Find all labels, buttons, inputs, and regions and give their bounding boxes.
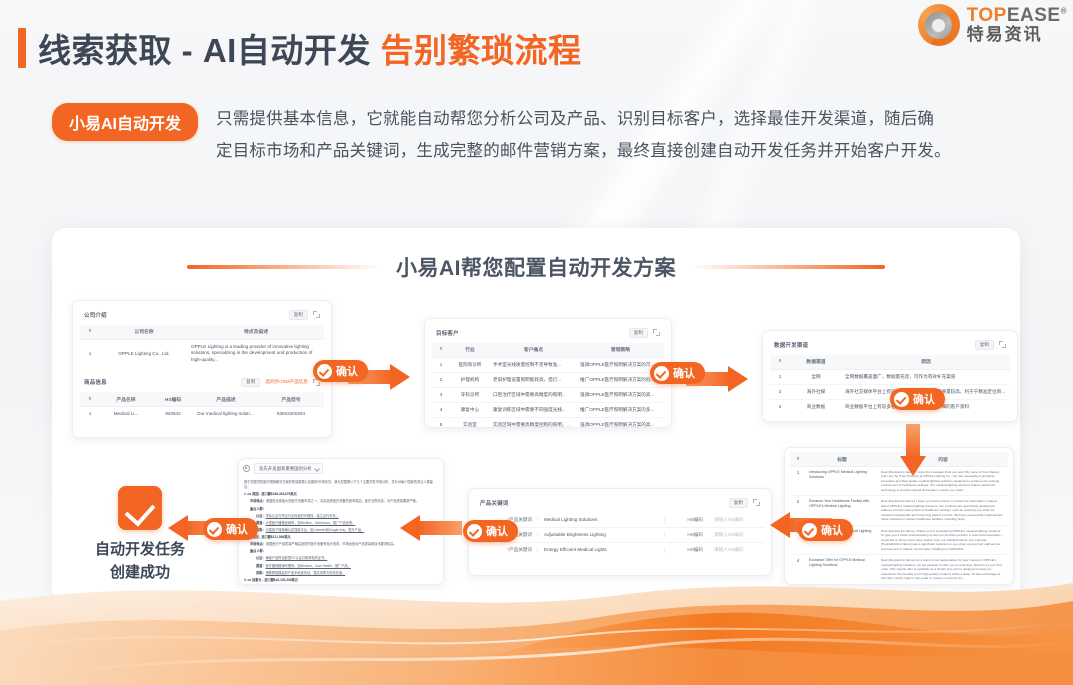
page-title-main: 线索获取 - AI自动开发 <box>38 32 381 69</box>
keyword-label-text: 产品关键词 <box>509 547 532 552</box>
task-success-block: 自动开发任务 创建成功 <box>88 486 192 585</box>
col-index: # <box>432 343 450 358</box>
page-title-text: 线索获取 - AI自动开发 告别繁琐流程 <box>38 24 582 72</box>
cell-subject: Enhance Your Healthcare Facility with OP… <box>809 499 875 509</box>
col-product-desc: 产品描述 <box>194 392 258 407</box>
check-icon <box>894 392 909 407</box>
card-company-info[interactable]: 公司介绍 复制 # 公司名称 特点及描述 1 OPPLE Lighting Co… <box>72 300 332 438</box>
table-row: 2护理机构老旧护理设置照明能耗高，但灯...推广OPPLE医疗照明解决方案的低.… <box>432 372 664 387</box>
confirm-label: 确认 <box>336 363 358 379</box>
keyword-value-input[interactable]: Adjustable Brightness Lighting <box>537 532 664 537</box>
confirm-chip-channel[interactable]: 确认 <box>890 388 945 410</box>
page-title: 线索获取 - AI自动开发 告别繁琐流程 <box>18 24 582 72</box>
check-icon <box>467 524 482 539</box>
table-header-row: # 行业 客户痛点 营销策略 <box>432 343 664 358</box>
hs-code-label: HS编码 <box>664 547 708 553</box>
keyword-label: *产品关键词 <box>478 547 537 553</box>
success-line-1: 自动开发任务 <box>88 538 192 561</box>
keyword-row[interactable]: *产品关键词 Adjustable Brightness Lighting HS… <box>476 528 764 543</box>
cell-strategy: 推广OPPLE医疗照明解决方案的多... <box>577 402 664 417</box>
expand-icon[interactable] <box>999 341 1006 348</box>
table-header-row: # 公司名称 特点及描述 <box>80 325 324 340</box>
cell-company-name: OPPLE Lighting Co., Ltd. <box>100 339 188 367</box>
table-row: 3牙科诊所口腔治疗区域中需要高精度的照明...强调OPPLE医疗照明解决方案的高… <box>432 387 664 402</box>
cell-pain-point: 老旧护理设置照明能耗高，但灯... <box>490 372 577 387</box>
cell-industry: 牙科诊所 <box>450 387 490 402</box>
brand-name-top-part1: TOP <box>967 5 1007 26</box>
intro-paragraph: 只需提供基本信息，它就能自动帮您分析公司及产品、识别目标客户，选择最佳开发渠道，… <box>216 103 951 167</box>
col-index: # <box>80 325 100 340</box>
cell-index: 1 <box>80 407 100 421</box>
hs-code-label: HS编码 <box>664 532 708 538</box>
success-line-2: 创建成功 <box>88 561 192 584</box>
table-row: 1Introducing OPPLE Medical Lighting Solu… <box>790 467 1008 496</box>
cell-index: 3 <box>432 387 450 402</box>
success-check-icon <box>118 486 162 530</box>
cell-index: 1 <box>80 339 100 367</box>
cell-channel: 海外社媒 <box>790 384 842 399</box>
copy-button-goods[interactable]: 复制 <box>241 378 260 388</box>
confirm-label: 确认 <box>673 365 695 381</box>
brand-wordmark: TOPEASE® 特易资讯 <box>967 6 1067 44</box>
target-section-header: 目标客户 复制 <box>432 325 664 343</box>
report-header: 谈先开发国家重要国别分析 <box>239 459 443 480</box>
cell-strategy: 强调OPPLE医疗照明解决方案的高... <box>577 417 664 428</box>
table-row: 4康复中心康复训练区域中需要不同强度光线...推广OPPLE医疗照明解决方案的多… <box>432 402 664 417</box>
goods-section-title: 商品信息 <box>84 378 107 386</box>
confirm-chip-company[interactable]: 确认 <box>313 360 368 382</box>
cell-index: 1 <box>790 467 806 496</box>
intro-badge: 小易AI自动开发 <box>52 103 198 141</box>
cell-product-desc: Our medical lighting solutio... <box>194 407 258 421</box>
cell-industry: 医院和诊所 <box>450 357 490 372</box>
hs-code-input[interactable]: 请输入HS编码 <box>708 532 762 538</box>
table-row: 1全网全网数据覆盖面广，数据量充足，可作为有效补充渠道 <box>770 369 1010 384</box>
cell-company-desc: OPPLE Lighting is a leading provider of … <box>188 339 324 367</box>
expand-icon[interactable] <box>653 329 660 336</box>
company-section-header: 公司介绍 复制 <box>80 307 324 325</box>
report-item-line: 重点人群： <box>244 549 438 554</box>
table-row: 1医院和诊所手术室光线质量控制不足导致准...强调OPPLE医疗照明解决方案的可… <box>432 357 664 372</box>
keyword-value-input[interactable]: Energy Efficient Medical Lights <box>537 547 664 552</box>
col-company-desc: 特点及描述 <box>188 325 324 340</box>
cell-index: 4 <box>432 402 450 417</box>
cell-body: Dear [Recipient's Name], I hope you had … <box>881 499 1005 521</box>
col-body: 内容 <box>878 452 1008 467</box>
topease-ring-icon <box>918 4 960 46</box>
sync-crm-link[interactable]: 选同步CRM产品信息 <box>265 380 308 385</box>
confirm-chip-target[interactable]: 确认 <box>650 362 705 384</box>
brand-logo: TOPEASE® 特易资讯 <box>918 4 1067 46</box>
target-table: # 行业 客户痛点 营销策略 1医院和诊所手术室光线质量控制不足导致准...强调… <box>432 343 664 428</box>
report-select[interactable]: 谈先开发国家重要国别分析 <box>254 463 323 474</box>
cell-pain-point: 实验区域中需要高精度控制的照明，强... <box>490 417 577 428</box>
report-item-line: 重点人群： <box>244 507 438 512</box>
confirm-chip-email[interactable]: 确认 <box>798 519 853 541</box>
copy-button[interactable]: 复制 <box>629 328 648 338</box>
target-section-title: 目标客户 <box>436 329 459 337</box>
keyword-section-title: 产品关键词 <box>480 499 509 507</box>
confirm-label: 确认 <box>913 391 935 407</box>
cell-reason: 全网数据覆盖面广，数据量充足，可作为有效补充渠道 <box>842 369 1010 384</box>
cell-industry: 康复中心 <box>450 402 490 417</box>
flow-arrow-left-2 <box>400 515 462 541</box>
col-strategy: 营销策略 <box>577 343 664 358</box>
keyword-value-input[interactable]: Medical Lighting Solutions <box>537 517 664 522</box>
flow-panel-title: 小易AI帮您配置自动开发方案 <box>396 252 676 282</box>
check-icon <box>802 523 817 538</box>
cell-index: 1 <box>432 357 450 372</box>
report-item-title: 1. us 美国 - 进口额$248,445,876美元 <box>244 492 438 497</box>
cell-strategy: 强调OPPLE医疗照明解决方案的高... <box>577 387 664 402</box>
cell-channel: 全网 <box>790 369 842 384</box>
confirm-label: 确认 <box>821 522 843 538</box>
flow-panel-header: 小易AI帮您配置自动开发方案 <box>52 228 1020 282</box>
channel-table: # 数据渠道 原因 1全网全网数据覆盖面广，数据量充足，可作为有效补充渠道 2海… <box>770 355 1010 414</box>
cell-channel: 商业数据 <box>790 399 842 414</box>
report-item-line: 市场特点：德国医疗产品质量严格高品质的医疗设备有较大需求，市场运营对产品质量和技… <box>244 542 438 547</box>
brand-registered-mark: ® <box>1061 7 1067 16</box>
col-company-name: 公司名称 <box>100 325 188 340</box>
check-icon <box>207 522 222 537</box>
cell-subject: Introducing OPPLE Medical Lighting Solut… <box>809 470 875 480</box>
confirm-label: 确认 <box>226 521 248 537</box>
table-row: 5实验室实验区域中需要高精度控制的照明，强...强调OPPLE医疗照明解决方案的… <box>432 417 664 428</box>
check-icon <box>654 366 669 381</box>
confirm-label: 确认 <box>486 523 508 539</box>
cell-pain-point: 康复训练区域中需要不同强度光线... <box>490 402 577 417</box>
cell-product-name: Medical Li... <box>100 407 152 421</box>
intro-block: 小易AI自动开发 只需提供基本信息，它就能自动帮您分析公司及产品、识别目标客户，… <box>52 103 1033 167</box>
panel-rule-left <box>187 265 382 269</box>
col-channel: 数据渠道 <box>790 355 842 370</box>
confirm-chip-keyword[interactable]: 确认 <box>463 520 518 542</box>
title-accent-bar <box>18 28 26 68</box>
channel-section-header: 数据开发渠道 复制 <box>770 337 1010 355</box>
goods-section-header: 商品信息 复制 选同步CRM产品信息 <box>80 375 324 393</box>
table-header-row: # 标题 内容 <box>790 452 1008 467</box>
col-product-model: 产品型号 <box>258 392 324 407</box>
hs-code-label: HS编码 <box>664 517 708 523</box>
keyword-section-header: 产品关键词 复制 <box>476 495 764 513</box>
cell-index: 5 <box>432 417 450 428</box>
card-data-channels[interactable]: 数据开发渠道 复制 # 数据渠道 原因 1全网全网数据覆盖面广，数据量充足，可作… <box>762 330 1018 422</box>
flow-arrow-down-1 <box>900 424 926 476</box>
hs-code-input[interactable]: 请输入HS编码 <box>708 547 762 553</box>
cell-body: Dear [Recipient's Name], Thank you for c… <box>881 529 1005 551</box>
col-index: # <box>80 392 100 407</box>
copy-button[interactable]: 复制 <box>975 340 994 350</box>
intro-line-1: 只需提供基本信息，它就能自动帮您分析公司及产品、识别目标客户，选择最佳开发渠道，… <box>216 103 951 135</box>
report-item-line: 市场特点：美国是全球最大的医疗设备市场之一，对高品质医疗设备的需求强劲，医疗法规… <box>244 499 438 504</box>
company-table: # 公司名称 特点及描述 1 OPPLE Lighting Co., Ltd. … <box>80 325 324 368</box>
check-icon <box>317 364 332 379</box>
cell-industry: 实验室 <box>450 417 490 428</box>
col-industry: 行业 <box>450 343 490 358</box>
col-product-name: 产品名称 <box>100 392 152 407</box>
col-reason: 原因 <box>842 355 1010 370</box>
copy-button[interactable]: 复制 <box>289 310 308 320</box>
expand-icon[interactable] <box>753 499 760 506</box>
table-row: 1 OPPLE Lighting Co., Ltd. OPPLE Lightin… <box>80 339 324 367</box>
table-header-row: # 产品名称 HS编码 产品描述 产品型号 <box>80 392 324 407</box>
cell-index: 2 <box>770 384 790 399</box>
intro-line-2: 定目标市场和产品关键词，生成完整的邮件营销方案，最终直接创建自动开发任务并开始客… <box>216 135 951 167</box>
col-hs-code: HS编码 <box>152 392 194 407</box>
col-index: # <box>790 452 806 467</box>
keyword-row[interactable]: *产品关键词 Medical Lighting Solutions HS编码 请… <box>476 513 764 528</box>
settings-icon <box>243 465 250 472</box>
goods-table: # 产品名称 HS编码 产品描述 产品型号 1 Medical Li... 94… <box>80 392 324 420</box>
col-subject: 标题 <box>806 452 878 467</box>
cell-product-model: 53923400204 <box>258 407 324 421</box>
table-row: 1 Medical Li... 940542 Our medical light… <box>80 407 324 421</box>
col-pain-point: 客户痛点 <box>490 343 577 358</box>
cell-pain-point: 手术室光线质量控制不足导致准... <box>490 357 577 372</box>
company-section-title: 公司介绍 <box>84 311 107 319</box>
brand-name-cn: 特易资讯 <box>967 26 1067 44</box>
channel-section-title: 数据开发渠道 <box>774 341 808 349</box>
expand-icon[interactable] <box>313 311 320 318</box>
cell-industry: 护理机构 <box>450 372 490 387</box>
confirm-chip-report[interactable]: 确认 <box>203 518 258 540</box>
col-index: # <box>770 355 790 370</box>
cell-index: 2 <box>432 372 450 387</box>
cell-index: 3 <box>770 399 790 414</box>
cell-pain-point: 口腔治疗区域中需要高精度的照明... <box>490 387 577 402</box>
report-intro: 基于您提供的医疗照明解决方案的贸易数据以及国别/市场情况，我为您整理以下几个主要… <box>244 480 438 490</box>
cell-index: 1 <box>770 369 790 384</box>
table-header-row: # 数据渠道 原因 <box>770 355 1010 370</box>
panel-rule-right <box>690 265 885 269</box>
card-target-customers[interactable]: 目标客户 复制 # 行业 客户痛点 营销策略 1医院和诊所手术室光线质量控制不足… <box>424 318 672 428</box>
hs-code-input[interactable]: 请输入HS编码 <box>708 517 762 523</box>
copy-button[interactable]: 复制 <box>729 498 748 508</box>
brand-name-top-part2: EASE <box>1007 5 1061 26</box>
page-title-accent: 告别繁琐流程 <box>381 32 582 69</box>
cell-hs-code: 940542 <box>152 407 194 421</box>
